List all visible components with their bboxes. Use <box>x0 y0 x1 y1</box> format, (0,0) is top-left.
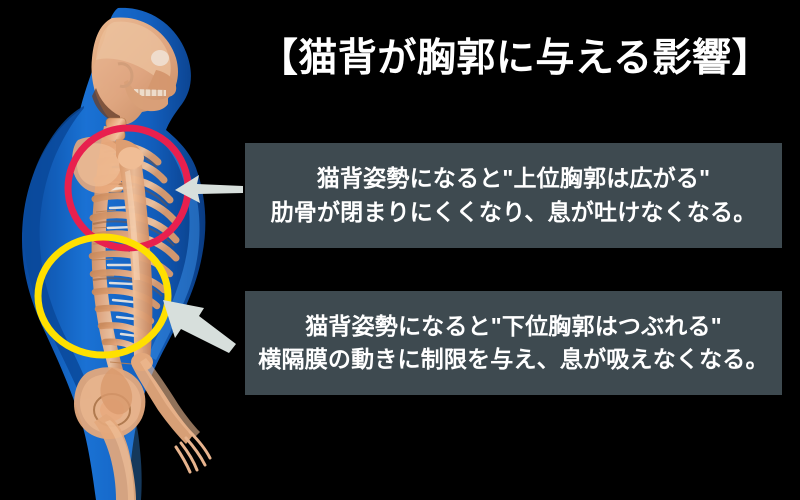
callout-lower-line-1: 猫背姿勢になると"下位胸郭はつぶれる" <box>305 310 722 343</box>
callout-lower-line-2: 横隔膜の動きに制限を与え、息が吸えなくなる。 <box>258 343 768 376</box>
slide-canvas: 【猫背が胸郭に与える影響】 猫背姿勢になると"上位胸郭は広がる" 肋骨が閉まりに… <box>0 0 800 500</box>
anatomy-illustration <box>0 0 250 500</box>
callout-upper-line-2: 肋骨が閉まりにくくなり、息が吐けなくなる。 <box>271 196 757 229</box>
callout-panel-upper-thorax: 猫背姿勢になると"上位胸郭は広がる" 肋骨が閉まりにくくなり、息が吐けなくなる。 <box>245 143 782 248</box>
forearm-and-hand-bones <box>132 358 210 472</box>
callout-upper-line-1: 猫背姿勢になると"上位胸郭は広がる" <box>317 162 710 195</box>
page-title: 【猫背が胸郭に与える影響】 <box>245 38 785 81</box>
callout-panel-lower-thorax: 猫背姿勢になると"下位胸郭はつぶれる" 横隔膜の動きに制限を与え、息が吸えなくな… <box>245 291 782 395</box>
